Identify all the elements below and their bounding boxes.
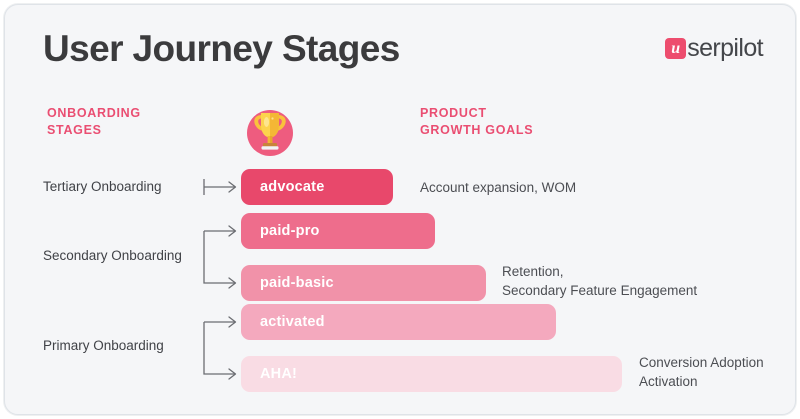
connector-branch-arrow-secondary [202, 219, 242, 297]
bar-activated[interactable]: activated [241, 304, 556, 340]
column-heading-onboarding-stages: ONBOARDING STAGES [47, 105, 141, 139]
bar-paid-basic[interactable]: paid-basic [241, 265, 486, 301]
connector-branch-arrow-primary [202, 310, 242, 388]
goal-text-tertiary: Account expansion, WOM [420, 178, 576, 197]
bar-paid-pro[interactable]: paid-pro [241, 213, 435, 249]
stage-name-primary: Primary Onboarding [43, 337, 164, 355]
brand-logo: u serpilot [665, 34, 763, 62]
goal-text-primary: Conversion Adoption Activation [639, 353, 764, 391]
bar-label-aha: AHA! [260, 366, 297, 382]
trophy-icon [242, 101, 298, 157]
logo-wordmark: serpilot [687, 36, 763, 61]
stage-name-tertiary: Tertiary Onboarding [43, 178, 162, 196]
page-title: User Journey Stages [43, 27, 400, 71]
bar-aha[interactable]: AHA! [241, 356, 622, 392]
column-heading-product-growth-goals: PRODUCT GROWTH GOALS [420, 105, 533, 139]
connector-single-arrow-tertiary [202, 171, 242, 203]
bar-label-paid-basic: paid-basic [260, 275, 334, 291]
infographic-card: User Journey Stages u serpilot ONBOARDIN… [4, 4, 796, 415]
bar-advocate[interactable]: advocate [241, 169, 393, 205]
trophy-badge [242, 101, 298, 157]
goal-text-secondary: Retention, Secondary Feature Engagement [502, 262, 697, 300]
bar-label-activated: activated [260, 314, 325, 330]
bar-label-paid-pro: paid-pro [260, 223, 320, 239]
logo-mark-icon: u [665, 38, 686, 59]
bar-label-advocate: advocate [260, 179, 324, 195]
stage-name-secondary: Secondary Onboarding [43, 247, 182, 265]
